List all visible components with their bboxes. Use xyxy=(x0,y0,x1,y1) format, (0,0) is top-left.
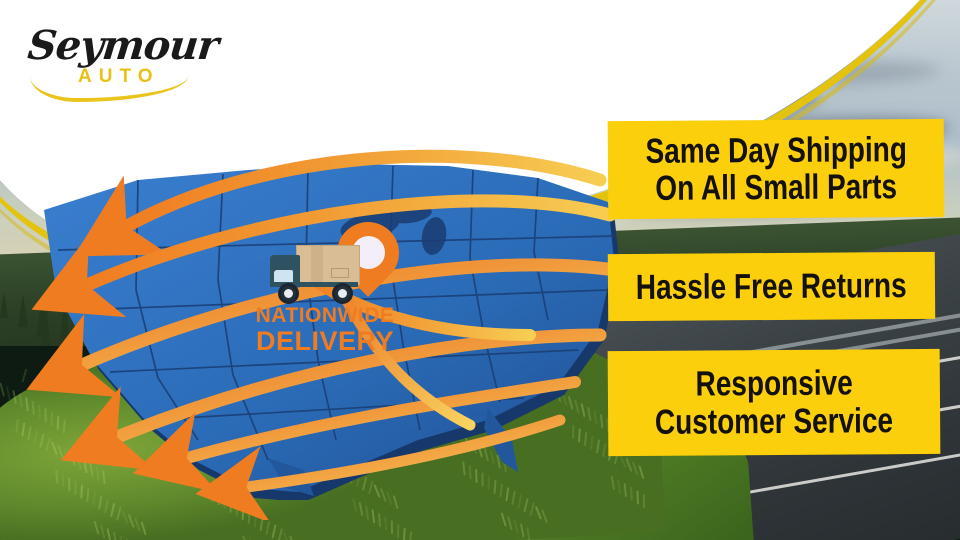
delivery-truck-icon xyxy=(270,243,366,299)
logo-brand-name: Seymour xyxy=(26,22,221,69)
banner-same-day-shipping: Same Day Shipping On All Small Parts xyxy=(608,119,945,219)
caption-line-1: NATIONWIDE xyxy=(250,305,400,326)
banner1-line1: Same Day Shipping xyxy=(645,131,907,170)
nationwide-delivery-caption: NATIONWIDE DELIVERY xyxy=(250,305,400,355)
caption-line-2: DELIVERY xyxy=(250,328,400,355)
logo-swoosh xyxy=(30,76,188,102)
banner3-line2: Customer Service xyxy=(655,402,893,441)
promo-banner-slide: NATIONWIDE DELIVERY Seymour AUTO Same Da… xyxy=(0,0,960,540)
banner-responsive-customer-service: Responsive Customer Service xyxy=(608,349,941,456)
banner2-line1: Hassle Free Returns xyxy=(636,267,907,306)
banner1-line2: On All Small Parts xyxy=(655,168,897,207)
banner-hassle-free-returns: Hassle Free Returns xyxy=(608,252,935,321)
seymour-auto-logo[interactable]: Seymour AUTO xyxy=(22,14,212,100)
banner3-line1: Responsive xyxy=(695,365,852,403)
